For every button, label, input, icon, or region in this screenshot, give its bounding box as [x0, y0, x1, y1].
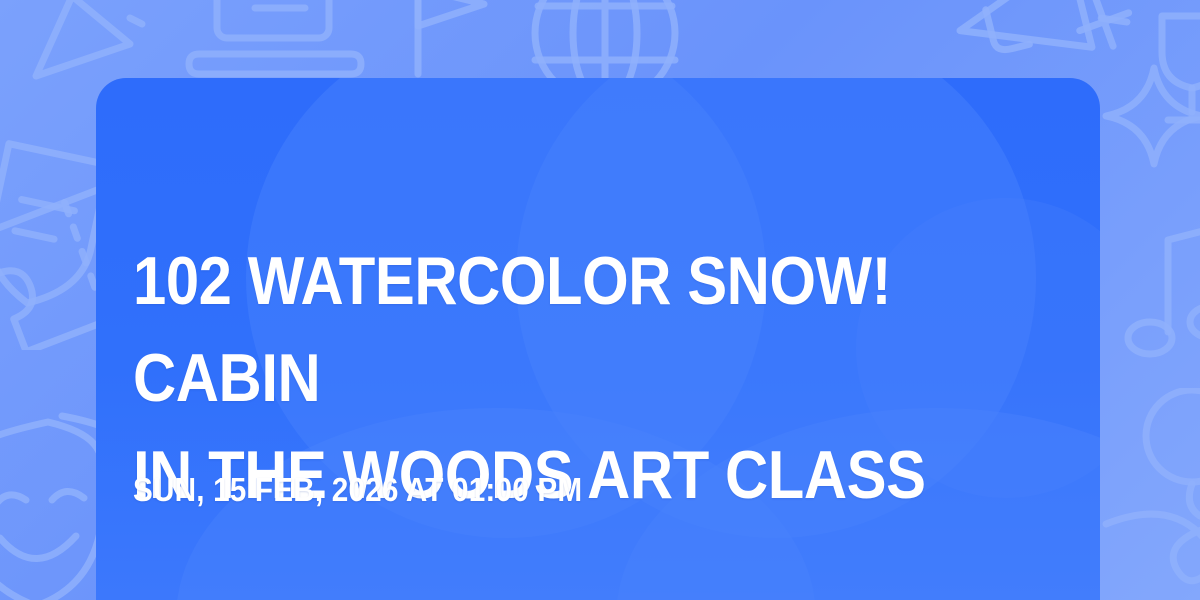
event-banner: 102 Watercolor Snow! Cabin in the Woods …	[0, 0, 1200, 600]
megaphone-icon	[930, 0, 1140, 88]
card-content: 102 Watercolor Snow! Cabin in the Woods …	[133, 78, 1080, 600]
trophy-icon	[1128, 0, 1200, 146]
event-card: 102 Watercolor Snow! Cabin in the Woods …	[96, 78, 1100, 600]
music-note-icon	[1118, 206, 1200, 376]
sparkle-icon	[1060, 0, 1160, 76]
event-date: Sun, 15 Feb, 2026 at 01:00 PM	[133, 470, 582, 510]
balloon-icon	[1096, 388, 1200, 600]
pennant-icon	[388, 0, 508, 90]
sparkle-icon	[1092, 54, 1200, 184]
